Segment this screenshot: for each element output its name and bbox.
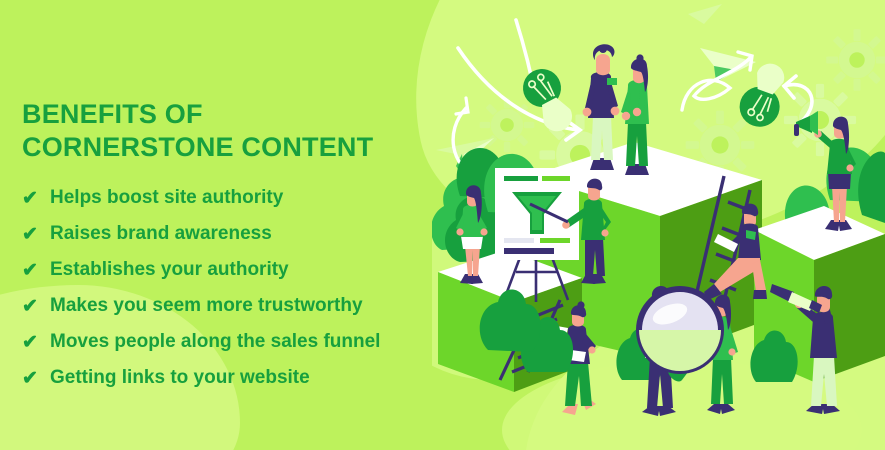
list-item-label: Makes you seem more trustworthy <box>50 295 363 317</box>
list-item: ✔ Raises brand awareness <box>22 216 462 252</box>
infographic-banner: BENEFITS OF CORNERSTONE CONTENT ✔ Helps … <box>0 0 885 450</box>
page-title-line-1: BENEFITS OF <box>22 98 462 131</box>
gear-icon <box>826 29 885 91</box>
text-column: BENEFITS OF CORNERSTONE CONTENT ✔ Helps … <box>22 98 462 396</box>
gear-icon <box>480 98 535 153</box>
list-item-label: Moves people along the sales funnel <box>50 331 380 353</box>
list-item: ✔ Establishes your authority <box>22 252 462 288</box>
list-item-label: Helps boost site authority <box>50 187 283 209</box>
list-item: ✔ Makes you seem more trustworthy <box>22 288 462 324</box>
list-item-label: Establishes your authority <box>50 259 289 281</box>
check-icon: ✔ <box>22 369 44 388</box>
paper-plane-icon <box>688 4 722 24</box>
benefits-list: ✔ Helps boost site authority ✔ Raises br… <box>22 180 462 396</box>
list-item: ✔ Getting links to your website <box>22 360 462 396</box>
page-title: BENEFITS OF CORNERSTONE CONTENT <box>22 98 462 164</box>
check-icon: ✔ <box>22 261 44 280</box>
check-icon: ✔ <box>22 297 44 316</box>
check-icon: ✔ <box>22 225 44 244</box>
illustration <box>432 0 885 450</box>
list-item-label: Raises brand awareness <box>50 223 272 245</box>
check-icon: ✔ <box>22 333 44 352</box>
list-item: ✔ Helps boost site authority <box>22 180 462 216</box>
list-item-label: Getting links to your website <box>50 367 310 389</box>
page-title-line-2: CORNERSTONE CONTENT <box>22 131 462 164</box>
list-item: ✔ Moves people along the sales funnel <box>22 324 462 360</box>
check-icon: ✔ <box>22 189 44 208</box>
